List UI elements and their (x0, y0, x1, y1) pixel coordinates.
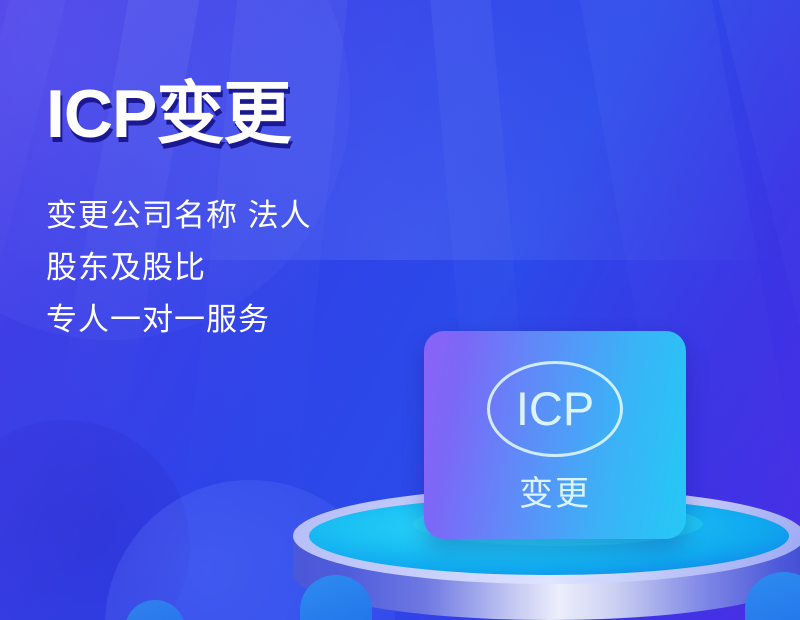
subtitle-line: 专人一对一服务 (46, 294, 446, 346)
page-title: ICP变更 (46, 80, 446, 148)
subtitle-list: 变更公司名称 法人 股东及股比 专人一对一服务 (46, 190, 446, 346)
light-ray (691, 0, 800, 472)
icp-badge-text: ICP (424, 377, 686, 441)
decorative-droplet (125, 600, 185, 620)
icp-change-banner: ICP变更 变更公司名称 法人 股东及股比 专人一对一服务 ICP 变更 (0, 0, 800, 620)
subtitle-line: 股东及股比 (46, 242, 446, 294)
decorative-circle-dark-lower-left (0, 420, 190, 620)
headline-block: ICP变更 变更公司名称 法人 股东及股比 专人一对一服务 (46, 80, 446, 346)
subtitle-line: 变更公司名称 法人 (46, 190, 446, 242)
icp-card: ICP 变更 (424, 331, 686, 539)
icp-card-label: 变更 (424, 473, 686, 515)
